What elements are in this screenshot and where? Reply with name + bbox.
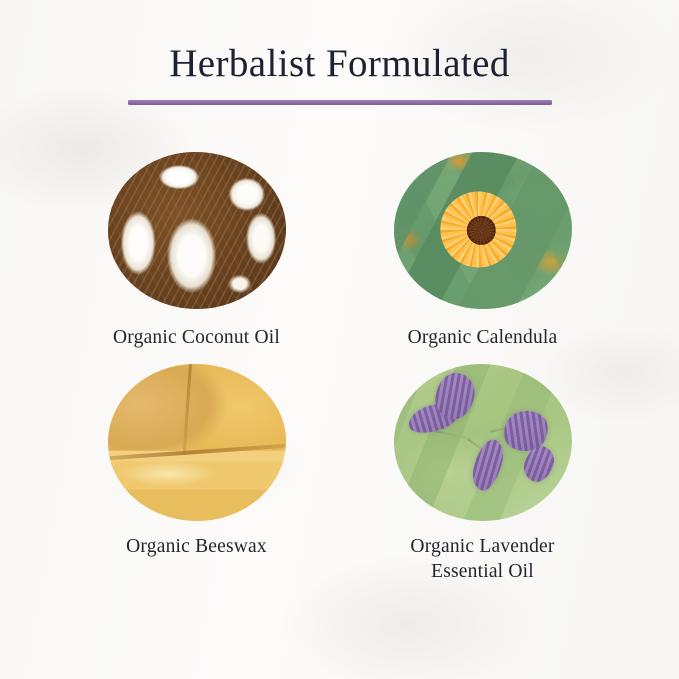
ingredient-infographic: Herbalist Formulated Organic Coconut Oil [0,0,679,679]
ingredient-card-beeswax[interactable]: Organic Beeswax [54,364,340,560]
lavender-sprigs-photo [394,364,572,521]
ingredient-card-calendula[interactable]: Organic Calendula [340,152,626,351]
ingredient-card-coconut-oil[interactable]: Organic Coconut Oil [54,152,340,351]
ingredient-label-lavender-essential-oil: Organic Lavender Essential Oil [410,535,554,585]
ingredient-label-coconut-oil: Organic Coconut Oil [113,326,280,351]
lavender-image-fill [394,364,572,521]
ingredient-label-calendula: Organic Calendula [408,326,558,351]
coconut-image-fill [108,152,286,309]
ingredient-grid: Organic Coconut Oil Organic Calendula [0,152,679,585]
title-underline-rule [128,100,552,105]
coconut-halves-photo [108,152,286,309]
header: Herbalist Formulated [0,44,679,105]
ingredient-row-1: Organic Coconut Oil Organic Calendula [0,152,679,351]
calendula-flower-photo [394,152,572,309]
ingredient-row-2: Organic Beeswax Organic Lavender Essent [0,364,679,585]
ingredient-label-line-2: Essential Oil [410,560,554,585]
ingredient-card-lavender-essential-oil[interactable]: Organic Lavender Essential Oil [340,364,626,585]
ingredient-label-beeswax: Organic Beeswax [126,535,267,560]
calendula-flower-center [466,215,495,244]
ingredient-label-line-1: Organic Lavender [410,535,554,560]
page-title: Herbalist Formulated [0,44,679,83]
beeswax-image-fill [108,364,286,521]
beeswax-blocks-photo [108,364,286,521]
